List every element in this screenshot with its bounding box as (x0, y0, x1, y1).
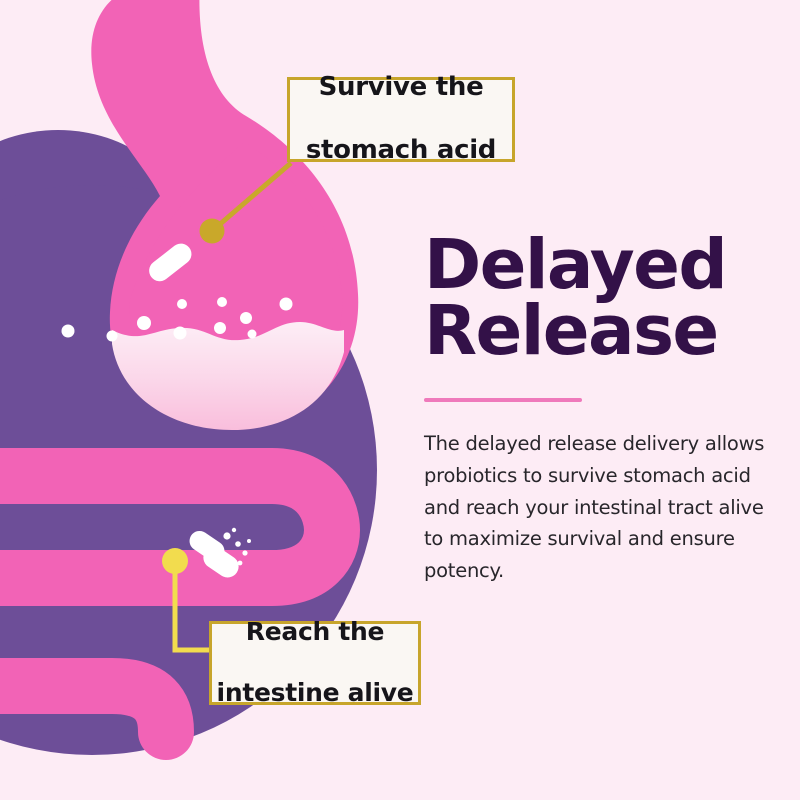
marker-dot-stomach[interactable] (200, 219, 225, 244)
body-paragraph: The delayed release delivery allows prob… (424, 402, 768, 586)
callout-stomach-line2: stomach acid (306, 135, 496, 167)
headline-line2: Release (424, 298, 776, 364)
marker-dot-intestine[interactable] (162, 548, 188, 574)
callout-survive-stomach-acid[interactable]: Survive the stomach acid (287, 77, 515, 162)
callout-intestine-line2: intestine alive (217, 678, 414, 709)
text-column: Delayed Release The delayed release deli… (424, 232, 776, 586)
page-title: Delayed Release (424, 232, 776, 364)
callout-intestine-text: Reach the intestine alive (217, 617, 414, 709)
callout-intestine-line1: Reach the (217, 617, 414, 648)
callout-stomach-line1: Survive the (306, 72, 496, 104)
callout-reach-intestine-alive[interactable]: Reach the intestine alive (209, 621, 421, 705)
infographic-canvas: Survive the stomach acid Reach the intes… (0, 0, 800, 800)
callout-stomach-text: Survive the stomach acid (306, 72, 496, 167)
